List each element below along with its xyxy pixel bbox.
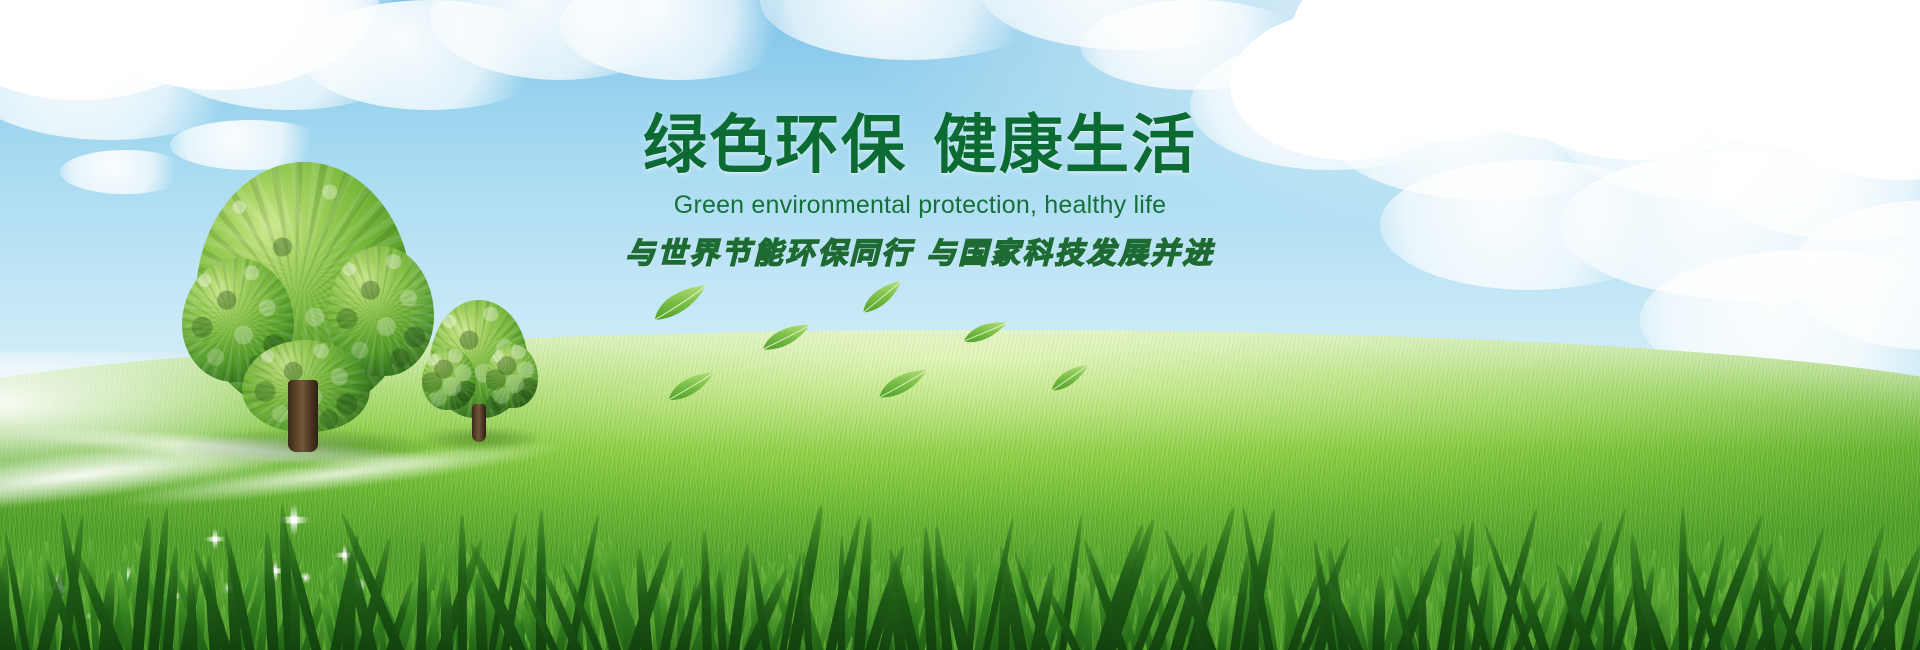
page-title: 绿色环保健康生活 [620, 112, 1220, 179]
grass-blade [715, 570, 727, 650]
subtitle-english: Green environmental protection, healthy … [620, 191, 1220, 220]
grass-blade [700, 531, 712, 650]
headline-part-1: 绿色环保 [643, 109, 907, 181]
large-tree [196, 162, 412, 450]
grass-blade [440, 577, 452, 650]
tree-trunk [288, 380, 318, 452]
grass-blade [1372, 575, 1386, 650]
grass-blade [1679, 507, 1689, 650]
calligraphy-slogan: 与世界节能环保同行 与国家科技发展并进 [620, 230, 1220, 272]
headline-block: 绿色环保健康生活 Green environmental protection,… [620, 112, 1220, 272]
grass-blade [838, 536, 845, 650]
grass-blade [1084, 580, 1092, 650]
small-tree-trunk [472, 404, 486, 442]
headline-part-2: 健康生活 [933, 109, 1197, 181]
small-tree [430, 300, 528, 442]
grass-blade [458, 514, 467, 650]
eco-banner: 绿色环保健康生活 Green environmental protection,… [0, 0, 1920, 650]
foreground-grass [0, 490, 1920, 650]
grass-blade [416, 540, 428, 650]
